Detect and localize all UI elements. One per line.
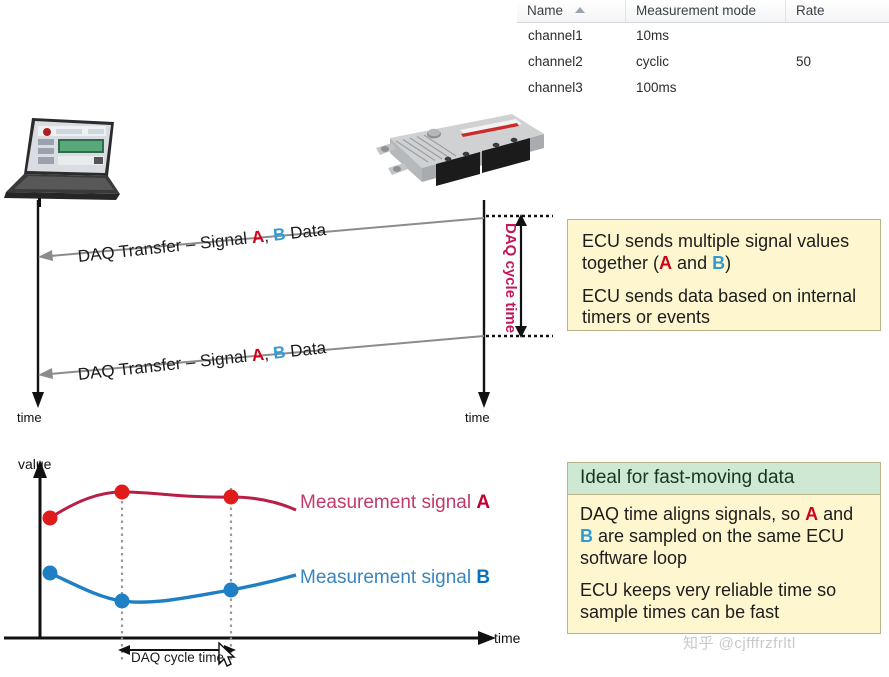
- legend-signal-a: Measurement signal A: [300, 492, 490, 514]
- callout-bottom-header: Ideal for fast-moving data: [568, 463, 880, 495]
- legend-signal-a-label: Measurement signal A: [300, 492, 490, 513]
- cell-rate: [785, 23, 889, 49]
- callout-ecu-behavior: ECU sends multiple signal values togethe…: [567, 219, 881, 331]
- callout-top-line-2: ECU sends data based on internal timers …: [582, 286, 866, 330]
- callout-ideal-usage: Ideal for fast-moving data DAQ time alig…: [567, 462, 881, 634]
- lifeline-label-left: time: [17, 410, 42, 425]
- column-header-rate[interactable]: Rate: [785, 0, 889, 22]
- legend-signal-b: Measurement signal B: [300, 567, 490, 589]
- lifeline-laptop-arrowhead: [32, 392, 44, 408]
- column-header-rate-label: Rate: [796, 3, 825, 18]
- cell-name: channel2: [517, 49, 625, 75]
- legend-signal-b-label: Measurement signal B: [300, 567, 490, 588]
- cell-measurement-mode: 10ms: [625, 23, 785, 49]
- ecu-icon: [362, 112, 547, 202]
- message-arrow-1-head: [38, 250, 53, 261]
- cell-name: channel3: [517, 75, 625, 101]
- signal-b-sample-point: [224, 583, 239, 598]
- callout-bottom-line-1: DAQ time aligns signals, so A and B are …: [580, 504, 868, 569]
- cell-rate: 50: [785, 49, 889, 75]
- signal-a-curve: [50, 492, 296, 518]
- column-header-name[interactable]: Name: [517, 0, 625, 22]
- signal-a-sample-point: [43, 511, 58, 526]
- callout-top-line-1: ECU sends multiple signal values togethe…: [582, 231, 866, 275]
- cell-name: channel1: [517, 23, 625, 49]
- cell-rate: [785, 75, 889, 101]
- signal-b-token: B: [580, 526, 593, 546]
- signal-a-sample-point: [224, 490, 239, 505]
- signal-a-token: A: [659, 253, 672, 273]
- channel-table-header-row: Name Measurement mode Rate: [517, 0, 889, 23]
- callout-top-line-1b: and: [672, 253, 712, 273]
- daq-cycle-time-vertical-label: DAQ cycle time: [502, 223, 519, 343]
- lifeline-ecu-arrowhead: [478, 392, 490, 408]
- laptop-icon: [2, 112, 122, 207]
- callout-bottom-line-2: ECU keeps very reliable time so sample t…: [580, 580, 868, 624]
- daq-cycle-time-horizontal-label: DAQ cycle time: [131, 650, 224, 665]
- lifeline-label-right: time: [465, 410, 490, 425]
- callout-bottom-line-1a: DAQ time aligns signals, so: [580, 504, 805, 524]
- callout-bottom-line-1c: are sampled on the same ECU software loo…: [580, 526, 844, 568]
- signal-b-token: B: [712, 253, 725, 273]
- chart-x-axis-label: time: [494, 630, 520, 646]
- callout-top-line-1c: ): [725, 253, 731, 273]
- table-row[interactable]: channel2 cyclic 50: [517, 49, 889, 75]
- cell-measurement-mode: 100ms: [625, 75, 785, 101]
- column-header-name-label: Name: [527, 3, 563, 18]
- daq-cycle-arrow-head-left: [118, 645, 130, 655]
- table-row[interactable]: channel1 10ms: [517, 23, 889, 49]
- callout-bottom-body: DAQ time aligns signals, so A and B are …: [568, 495, 880, 624]
- watermark: 知乎 @cjfffrzfrltl: [683, 632, 796, 653]
- message-2-suffix: Data: [285, 338, 327, 361]
- callout-bottom-line-1b: and: [818, 504, 853, 524]
- signal-b-sample-point: [115, 594, 130, 609]
- message-arrow-2-head: [38, 368, 53, 379]
- signal-b-sample-point: [43, 566, 58, 581]
- column-header-measurement-mode-label: Measurement mode: [636, 3, 756, 18]
- signal-chart: [0, 448, 560, 677]
- signal-b-curve: [50, 573, 296, 602]
- signal-a-token: A: [805, 504, 818, 524]
- sort-ascending-icon[interactable]: [575, 7, 585, 13]
- table-row[interactable]: channel3 100ms: [517, 75, 889, 101]
- chart-y-axis-label: value: [18, 456, 51, 472]
- cell-measurement-mode: cyclic: [625, 49, 785, 75]
- signal-a-sample-point: [115, 485, 130, 500]
- column-header-measurement-mode[interactable]: Measurement mode: [625, 0, 785, 22]
- message-1-suffix: Data: [285, 220, 327, 243]
- channel-table[interactable]: Name Measurement mode Rate channel1 10ms…: [517, 0, 889, 101]
